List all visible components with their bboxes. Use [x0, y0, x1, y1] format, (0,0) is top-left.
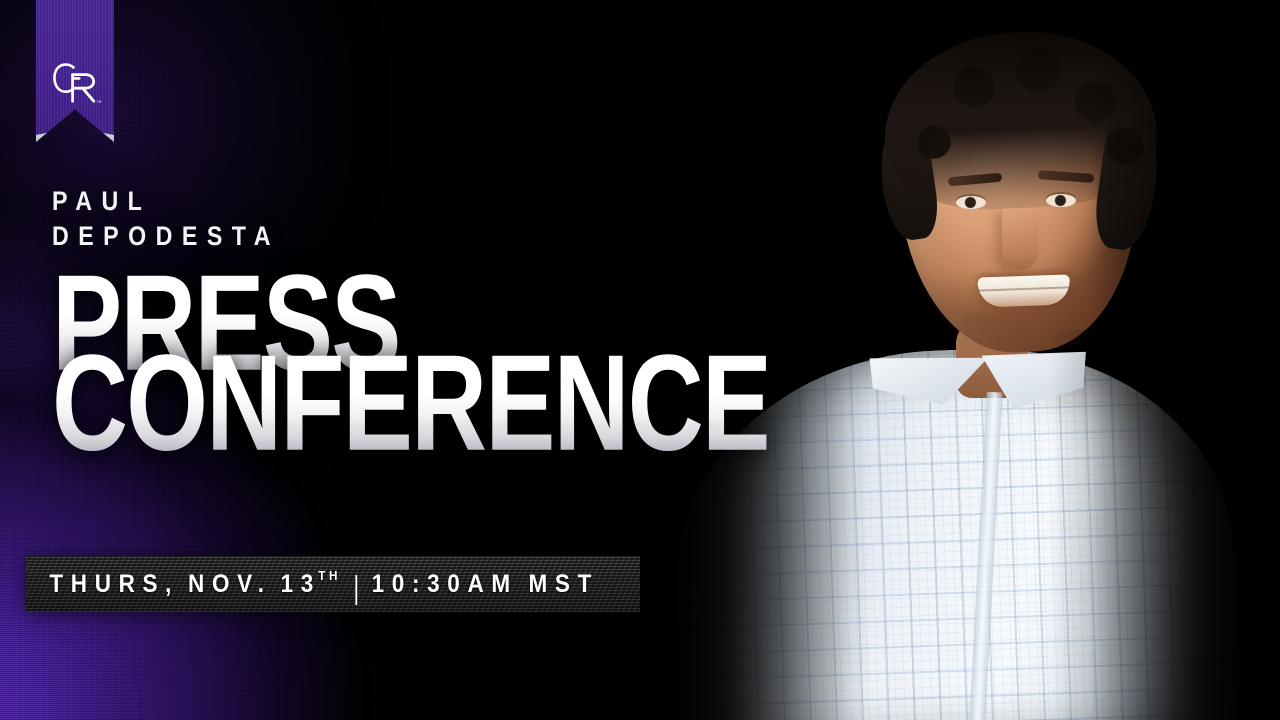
eye-left — [956, 196, 986, 209]
copy-block: PAUL DEPODESTA PRESS CONFERENCE — [52, 186, 812, 440]
subject-name-line-1: PAUL — [52, 186, 706, 217]
eye-right — [1046, 194, 1076, 207]
date-ordinal-suffix: TH — [318, 568, 341, 583]
subject-fade-right — [1090, 0, 1280, 720]
date-time-divider — [355, 575, 357, 605]
headline-line-conference: CONFERENCE — [52, 346, 766, 461]
event-timezone: MST — [529, 570, 599, 599]
date-day: THURS, — [49, 570, 179, 599]
press-conference-graphic: ™ PAUL DEPODESTA PRESS CONFERENCE THURS,… — [0, 0, 1280, 720]
event-time: 10:30AM — [372, 570, 518, 599]
headline: PRESS CONFERENCE — [52, 266, 812, 440]
nose — [1002, 208, 1038, 270]
date-number: 13 — [281, 570, 321, 599]
date-time-strip: THURS, NOV. 13 TH 10:30AM MST — [26, 556, 640, 612]
date-time-text: THURS, NOV. 13 TH 10:30AM MST — [26, 569, 599, 599]
date-month: NOV. — [188, 570, 272, 599]
